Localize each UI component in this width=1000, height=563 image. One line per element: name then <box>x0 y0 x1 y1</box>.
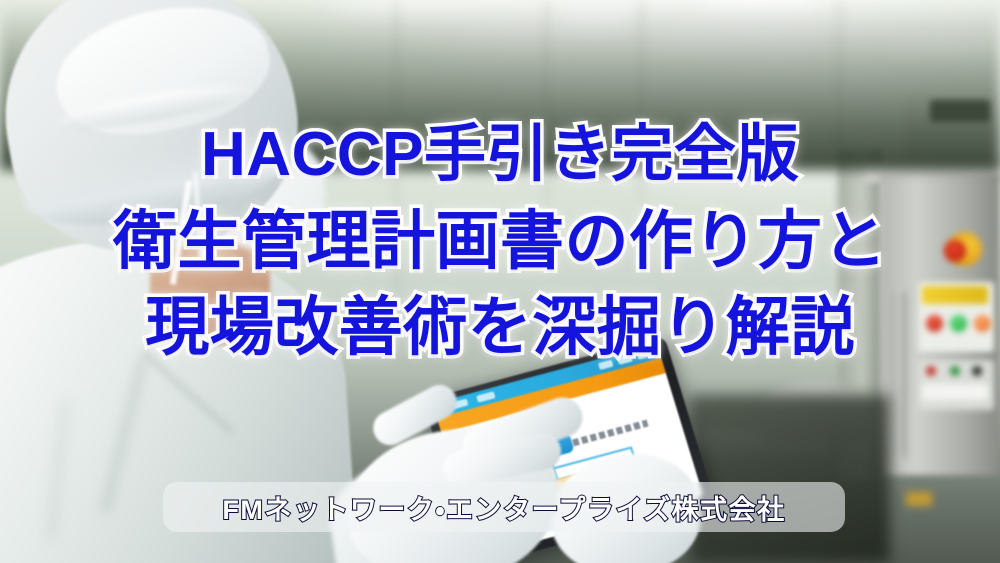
machine-accent <box>906 492 932 506</box>
company-name: FMネットワーク・エンタープライズ株式会社 <box>222 488 785 527</box>
company-banner: FMネットワーク・エンタープライズ株式会社 <box>163 482 845 532</box>
indicator-orange-icon <box>974 315 991 332</box>
panel-strip <box>922 384 988 400</box>
tablet-device <box>400 360 700 563</box>
machine-rail <box>893 290 906 460</box>
indicator-red-icon <box>926 315 943 332</box>
indicator-small-green-icon <box>950 366 960 376</box>
indicator-small-dark-icon <box>972 366 982 376</box>
thumbnail-canvas: HACCP手引き完全版 衛生管理計画書の作り方と 現場改善術を深掘り解説 FMネ… <box>0 0 1000 563</box>
indicator-small-red-icon <box>926 366 936 376</box>
panel-label <box>922 286 988 304</box>
indicator-green-icon <box>950 315 967 332</box>
machinery-shadow <box>690 395 890 563</box>
emergency-stop-button <box>944 240 966 262</box>
